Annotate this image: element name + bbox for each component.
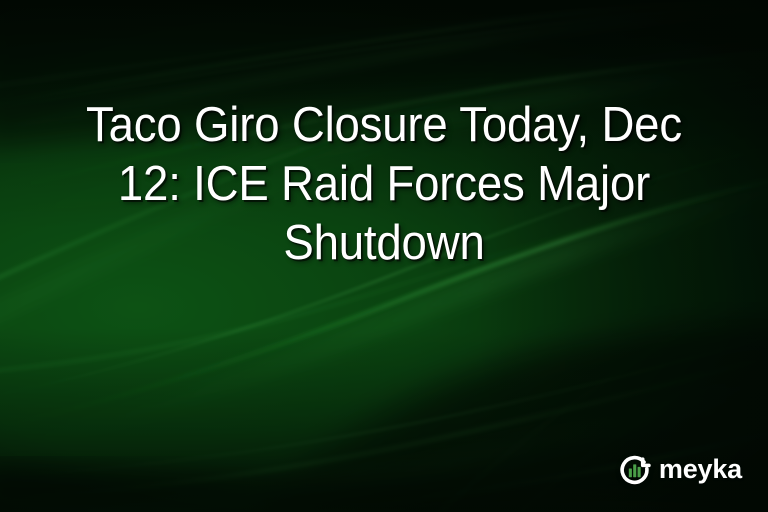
brand-logo[interactable]: meyka (619, 453, 742, 486)
brand-wordmark: meyka (659, 456, 742, 483)
meyka-bar-chart-ring-icon (619, 453, 652, 486)
headline-container: Taco Giro Closure Today, Dec 12: ICE Rai… (0, 96, 768, 273)
page-title: Taco Giro Closure Today, Dec 12: ICE Rai… (53, 96, 715, 273)
article-share-card: Taco Giro Closure Today, Dec 12: ICE Rai… (0, 0, 768, 512)
